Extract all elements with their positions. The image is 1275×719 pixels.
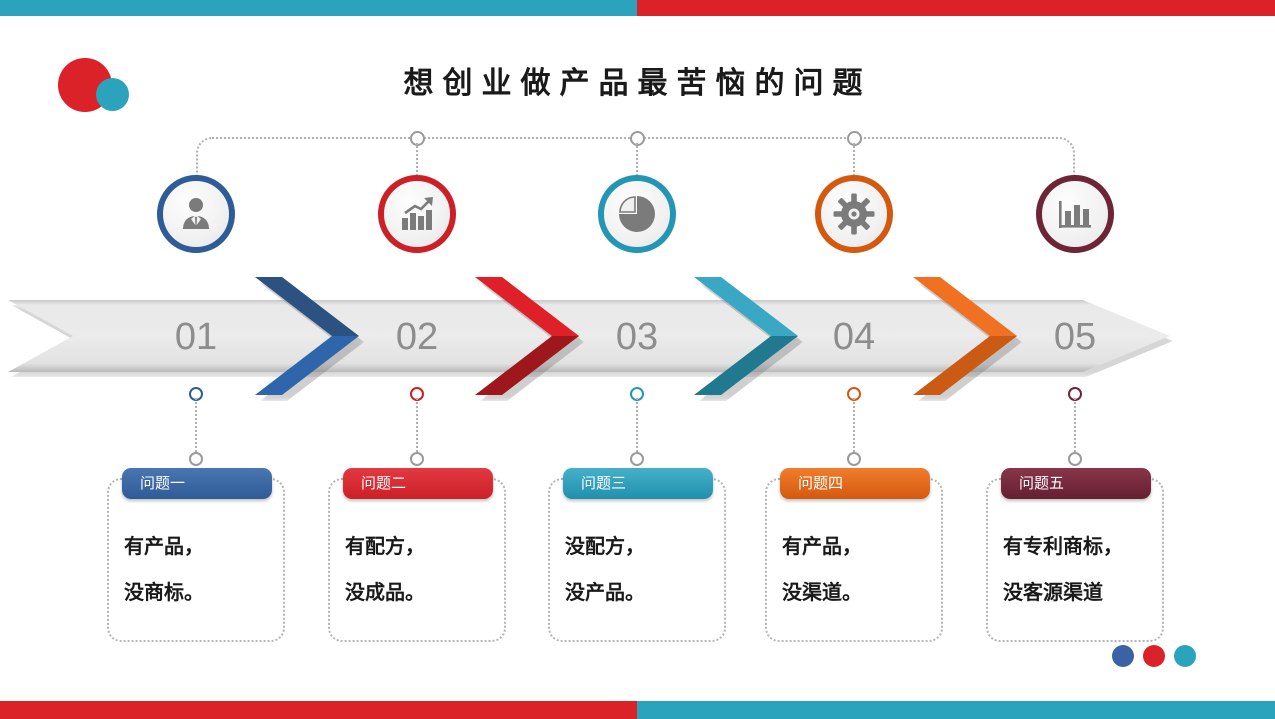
- bottom-accent-bar-right: [637, 701, 1275, 719]
- step-number-01: 01: [136, 316, 256, 359]
- problem-card-tab-02[interactable]: 问题二: [343, 468, 493, 499]
- top-accent-bar-right: [637, 0, 1275, 16]
- problem-card-line2-03: 没产品。: [551, 569, 741, 615]
- chevron-top-half: [913, 277, 1017, 336]
- bus-drop-03: [636, 143, 638, 176]
- step-icon-circle-01[interactable]: [157, 175, 235, 253]
- connector-dot-gray-05: [1068, 452, 1082, 466]
- problem-card-tab-01[interactable]: 问题一: [122, 468, 272, 499]
- problem-card-line1-01: 有产品，: [110, 523, 300, 569]
- slide-canvas: 想创业做产品最苦恼的问题 0102030405 有产品，没商标。问题一有配方，没…: [0, 0, 1275, 719]
- step-number-04: 04: [794, 316, 914, 359]
- problem-card-line2-02: 没成品。: [331, 569, 521, 615]
- step-number-05: 05: [1015, 316, 1135, 359]
- problem-card-text-02: 有配方，没成品。: [331, 523, 521, 615]
- problem-card-line1-04: 有产品，: [768, 523, 958, 569]
- bottom-accent-bar-left: [0, 701, 637, 719]
- connector-line-05: [1074, 398, 1076, 452]
- connector-line-02: [416, 398, 418, 452]
- problem-card-text-04: 有产品，没渠道。: [768, 523, 958, 615]
- connector-dot-gray-04: [847, 452, 861, 466]
- problem-card-tab-03[interactable]: 问题三: [563, 468, 713, 499]
- connector-line-04: [853, 398, 855, 452]
- step-icon-circle-05[interactable]: [1036, 175, 1114, 253]
- chevron-bottom-half: [694, 336, 798, 395]
- businessman-icon: [175, 193, 217, 235]
- connector-line-03: [636, 398, 638, 452]
- footer-dot-2: [1143, 645, 1165, 667]
- step-number-03: 03: [577, 316, 697, 359]
- chevron-bottom-half: [913, 336, 1017, 395]
- problem-card-line1-05: 有专利商标，: [989, 523, 1179, 569]
- problem-card-line2-05: 没客源渠道: [989, 569, 1179, 615]
- chevron-top-half: [255, 277, 359, 336]
- bus-drop-02: [416, 143, 418, 176]
- chevron-top-half: [694, 277, 798, 336]
- problem-card-tab-05[interactable]: 问题五: [1001, 468, 1151, 499]
- step-number-02: 02: [357, 316, 477, 359]
- problem-card-line1-03: 没配方，: [551, 523, 741, 569]
- problem-card-text-03: 没配方，没产品。: [551, 523, 741, 615]
- connector-line-01: [195, 398, 197, 452]
- problem-card-line2-04: 没渠道。: [768, 569, 958, 615]
- connector-dot-gray-03: [630, 452, 644, 466]
- connector-dot-gray-01: [189, 452, 203, 466]
- problem-card-text-01: 有产品，没商标。: [110, 523, 300, 615]
- chevron-03: [694, 277, 798, 395]
- footer-dot-1: [1112, 645, 1134, 667]
- chevron-01: [255, 277, 359, 395]
- problem-card-line2-01: 没商标。: [110, 569, 300, 615]
- chevron-top-half: [475, 277, 579, 336]
- step-icon-circle-02[interactable]: [378, 175, 456, 253]
- problem-card-line1-02: 有配方，: [331, 523, 521, 569]
- pie-chart-icon: [616, 193, 658, 235]
- problem-card-text-05: 有专利商标，没客源渠道: [989, 523, 1179, 615]
- growth-bar-chart-icon: [397, 195, 437, 233]
- step-icon-circle-04[interactable]: [815, 175, 893, 253]
- chevron-02: [475, 277, 579, 395]
- problem-card-tab-04[interactable]: 问题四: [780, 468, 930, 499]
- step-icon-circle-03[interactable]: [598, 175, 676, 253]
- chevron-bottom-half: [255, 336, 359, 395]
- bus-drop-04: [853, 143, 855, 176]
- chevron-bottom-half: [475, 336, 579, 395]
- connector-dot-gray-02: [410, 452, 424, 466]
- bar-chart-axis-icon: [1055, 195, 1095, 233]
- top-accent-bar-left: [0, 0, 637, 16]
- gear-icon: [833, 193, 875, 235]
- chevron-04: [913, 277, 1017, 395]
- page-title: 想创业做产品最苦恼的问题: [0, 58, 1275, 102]
- footer-dot-3: [1174, 645, 1196, 667]
